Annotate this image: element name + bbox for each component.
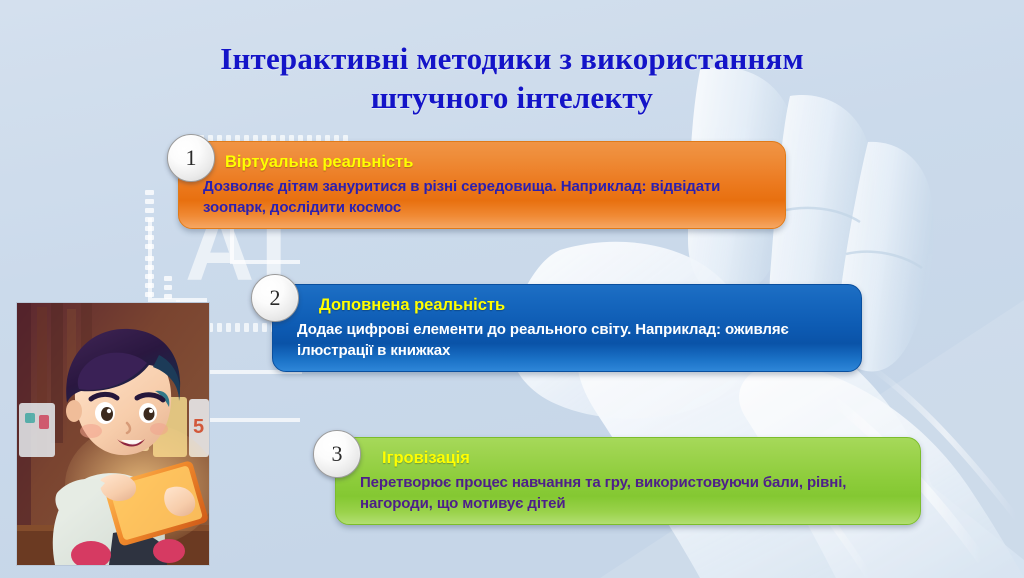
method-card-virtual-reality[interactable]: Віртуальна реальність Дозволяє дітям зан… (178, 141, 786, 229)
card-1-body: Дозволяє дітям зануритися в різні середо… (203, 176, 767, 219)
method-card-augmented-reality[interactable]: Доповнена реальність Додає цифрові елеме… (272, 284, 862, 372)
title-line-1: Інтерактивні методики з використанням (0, 39, 1024, 79)
card-3-title: Ігровізація (382, 448, 902, 469)
card-2-title: Доповнена реальність (319, 295, 843, 316)
method-card-gamification[interactable]: Ігровізація Перетворює процес навчання т… (335, 437, 921, 525)
card-3-body: Перетворює процес навчання та гру, викор… (360, 472, 902, 515)
title-line-2: штучного інтелекту (0, 78, 1024, 118)
card-3-number-badge: 3 (313, 430, 361, 478)
card-1-title: Віртуальна реальність (225, 152, 767, 173)
svg-text:5: 5 (193, 416, 204, 438)
card-1-number-badge: 1 (167, 134, 215, 182)
card-2-body: Додає цифрові елементи до реального світ… (297, 319, 843, 362)
slide-canvas: AI Інтерактивні методики з використанням… (0, 0, 1024, 578)
child-with-tablet-illustration: 5 (16, 302, 210, 566)
slide-title: Інтерактивні методики з використанням шт… (0, 39, 1024, 118)
card-2-number-badge: 2 (251, 274, 299, 322)
